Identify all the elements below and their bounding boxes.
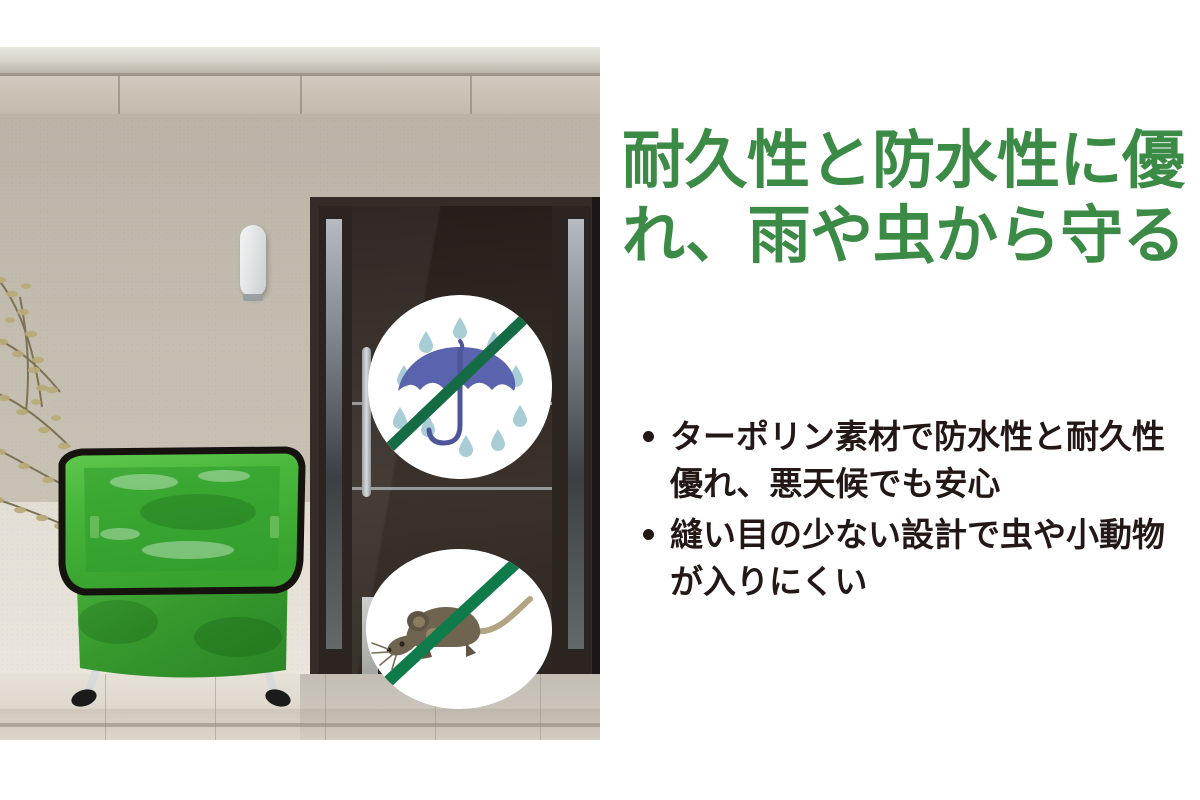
mouse-icon (366, 549, 552, 709)
green-tarpaulin-bag (48, 442, 333, 722)
door-rail (352, 487, 552, 490)
soffit-seam (118, 76, 120, 114)
umbrella-rain-icon (368, 295, 552, 479)
pavement-joint (540, 674, 541, 740)
feature-list: ターポリン素材で防水性と耐久性優れ、悪天候でも安心 縫い目の少ない設計で虫や小動… (636, 414, 1191, 609)
slide-root: 耐久性と防水性に優れ、雨や虫から守る ターポリン素材で防水性と耐久性優れ、悪天候… (0, 0, 1200, 800)
bullet-dot-icon (643, 529, 654, 540)
soffit-seam (470, 76, 472, 114)
bag-svg (48, 442, 333, 722)
page-title: 耐久性と防水性に優れ、雨や虫から守る (622, 124, 1194, 274)
list-item: ターポリン素材で防水性と耐久性優れ、悪天候でも安心 (636, 414, 1191, 508)
bullet-dot-icon (643, 431, 654, 442)
door-sidelight-right (568, 219, 584, 649)
wall-lamp (240, 225, 266, 297)
door-right-edge (592, 197, 600, 717)
list-item-label: 縫い目の少ない設計で虫や小動物が入りにくい (670, 516, 1165, 600)
product-photo (0, 47, 600, 740)
badge-no-rain (368, 295, 552, 479)
list-item: 縫い目の少ない設計で虫や小動物が入りにくい (636, 512, 1191, 606)
text-column: 耐久性と防水性に優れ、雨や虫から守る ターポリン素材で防水性と耐久性優れ、悪天候… (618, 0, 1193, 800)
soffit-seam (300, 76, 302, 114)
pavement-step-edge (0, 723, 600, 727)
roof-eave (0, 47, 600, 73)
wall-lamp-base (243, 294, 263, 301)
badge-no-pests (366, 549, 552, 709)
list-item-label: ターポリン素材で防水性と耐久性優れ、悪天候でも安心 (670, 418, 1165, 502)
